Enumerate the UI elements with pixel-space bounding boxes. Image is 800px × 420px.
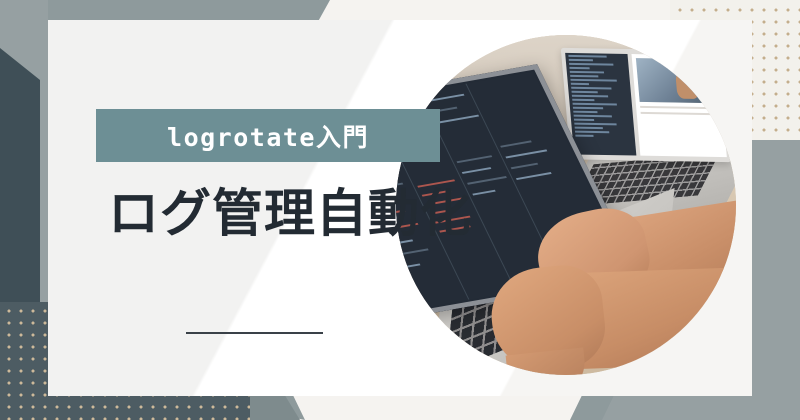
background-laptop-screen [561,48,732,162]
background-laptop-web-panel [632,54,727,157]
banner: logrotate入門 ログ管理自動化 [0,0,800,420]
page-title: ログ管理自動化 [108,186,472,245]
background-laptop-thumbnail [636,58,718,103]
background-laptop-code-panel [565,53,636,156]
divider-rule [186,332,323,334]
content-card: logrotate入門 ログ管理自動化 [48,20,752,396]
eyebrow-tag-label: logrotate入門 [167,118,369,154]
eyebrow-tag: logrotate入門 [96,109,440,162]
